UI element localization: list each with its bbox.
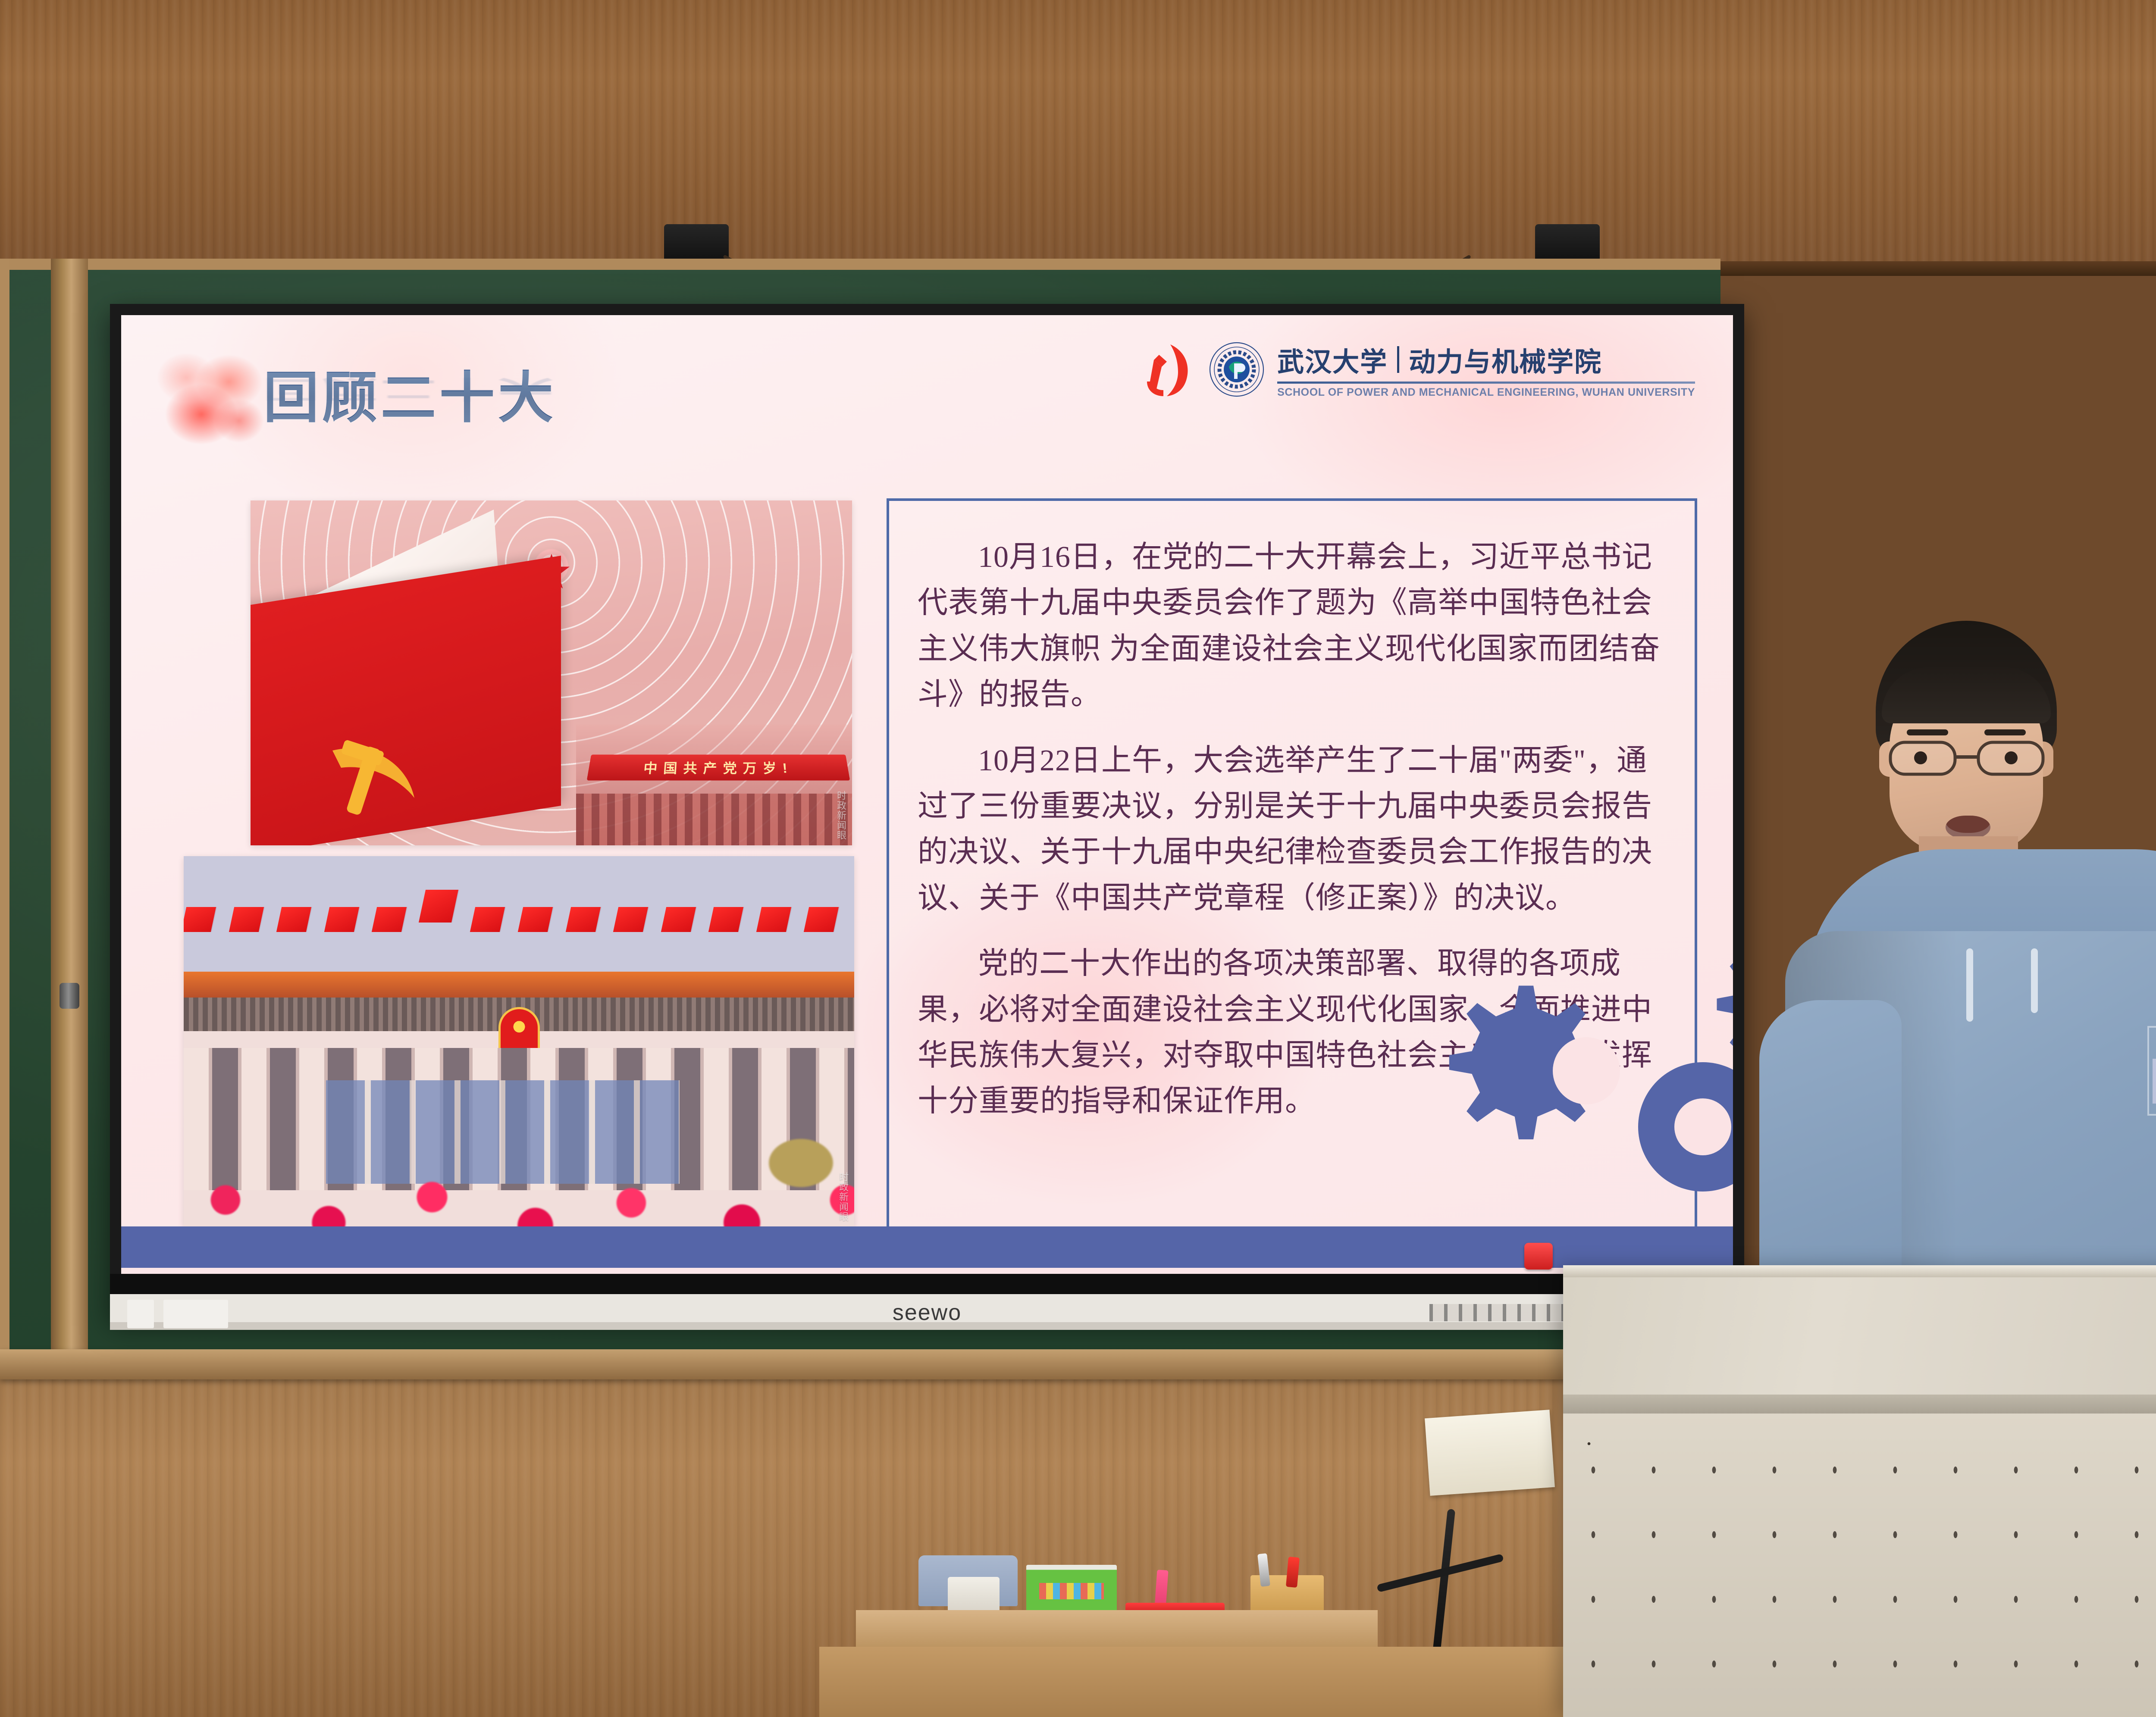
slide-text-panel: 10月16日，在党的二十大开幕会上，习近平总书记代表第十九届中央委员会作了题为《… <box>887 498 1697 1306</box>
eyeglasses-icon <box>1887 736 2046 778</box>
classroom-scene: 回顾二十大 回顾二十大 <box>0 0 2156 1717</box>
name-tag-text: 姓名牌 <box>2153 1059 2156 1098</box>
watercolor-blob-decoration <box>151 337 276 444</box>
emergency-red-button[interactable] <box>1524 1243 1553 1270</box>
slide-paragraph-1: 10月16日，在党的二十大开幕会上，习近平总书记代表第十九届中央委员会作了题为《… <box>918 535 1666 718</box>
slide-paragraph-2: 10月22日上午，大会选举产生了二十届"两委"，通过了三份重要决议，分别是关于十… <box>918 738 1666 922</box>
photo-great-hall-interior: 中国共产党万岁! 时政新闻眼 <box>251 500 852 845</box>
photo-great-hall-exterior: 时政新闻眼 <box>184 856 854 1227</box>
paper-sheet <box>1425 1410 1555 1496</box>
interactive-whiteboard[interactable]: 回顾二十大 回顾二十大 <box>110 304 1744 1317</box>
green-chalk-box[interactable] <box>1026 1565 1117 1614</box>
slide-title-reflection: 回顾二十大 <box>263 373 557 409</box>
wall-speaker-mount-left <box>664 224 729 264</box>
hall-banner: 中国共产党万岁! <box>587 755 850 781</box>
photo-watermark-exterior: 时政新闻眼 <box>838 1172 848 1222</box>
presenter-arm-left <box>1759 1000 1902 1267</box>
lectern-podium[interactable]: WUHAN UNIVERSITY 1893 武汉大学 <box>1563 1265 2156 1717</box>
presentation-slide: 回顾二十大 回顾二十大 <box>121 315 1733 1306</box>
teacher-desk <box>819 1647 1578 1717</box>
building-roof <box>184 972 854 998</box>
seewo-brand-label: seewo <box>893 1300 962 1326</box>
presenter-mouth <box>1946 816 1990 839</box>
whiteboard-bottom-bezel: seewo <box>110 1274 1744 1330</box>
wall-speaker-mount-right <box>1535 224 1600 264</box>
desk-items <box>871 1552 1371 1614</box>
red-flower-bed <box>184 1098 854 1227</box>
university-name-cn: 武汉大学 <box>1277 340 1388 379</box>
logo-lockup: 武汉大学 动力与机械学院 SCHOOL OF POWER AND MECHANI… <box>1144 340 1695 399</box>
presenter-badge: WHU 姓名牌 <box>2147 1026 2156 1116</box>
upper-wood-wall <box>0 0 2156 276</box>
chalkboard-slide-knob[interactable] <box>60 983 79 1009</box>
hammer-sickle-on-flag-icon <box>315 720 440 828</box>
podium-perforation-pattern <box>1563 1438 2156 1696</box>
presenter-fringe <box>1882 667 2051 723</box>
presenter-eyebrow-right <box>1984 729 2026 735</box>
bezel-stickers <box>127 1300 228 1328</box>
chalkboard-frame-left <box>0 259 9 1362</box>
brand-divider <box>1397 346 1399 373</box>
presenter: WHU 姓名牌 <box>1733 621 2156 1267</box>
hall-seats <box>576 794 852 845</box>
hoodie-drawstring-left <box>1966 948 1973 1022</box>
name-tag-sticker: 姓名牌 <box>2153 1059 2156 1104</box>
brand-chinese-row: 武汉大学 动力与机械学院 <box>1277 340 1695 379</box>
desk-upper-shelf <box>856 1610 1378 1649</box>
slide-paragraph-3: 党的二十大作出的各项决策部署、取得的各项成果，必将对全面建设社会主义现代化国家、… <box>918 941 1666 1125</box>
college-name-cn: 动力与机械学院 <box>1409 340 1602 379</box>
brand-english-line: SCHOOL OF POWER AND MECHANICAL ENGINEERI… <box>1277 386 1695 399</box>
brand-text-block: 武汉大学 动力与机械学院 SCHOOL OF POWER AND MECHANI… <box>1277 340 1695 399</box>
podium-top-surface <box>1563 1265 2156 1277</box>
photo-watermark-interior: 时政新闻眼 <box>836 791 846 840</box>
eraser-base[interactable] <box>948 1577 1000 1612</box>
podium-lip <box>1563 1395 2156 1414</box>
slide-bottom-navy-band <box>121 1226 1733 1268</box>
hoodie-drawstring-right <box>2031 948 2038 1013</box>
school-seal-icon <box>1209 342 1264 397</box>
cpc-hammer-sickle-icon <box>1144 342 1196 397</box>
chalk-tray-rail <box>0 1349 1755 1379</box>
presenter-eyebrow-left <box>1907 729 1948 735</box>
flag-row <box>184 899 854 951</box>
brand-rule <box>1277 382 1695 384</box>
chalkboard-panel-divider[interactable] <box>51 259 88 1362</box>
